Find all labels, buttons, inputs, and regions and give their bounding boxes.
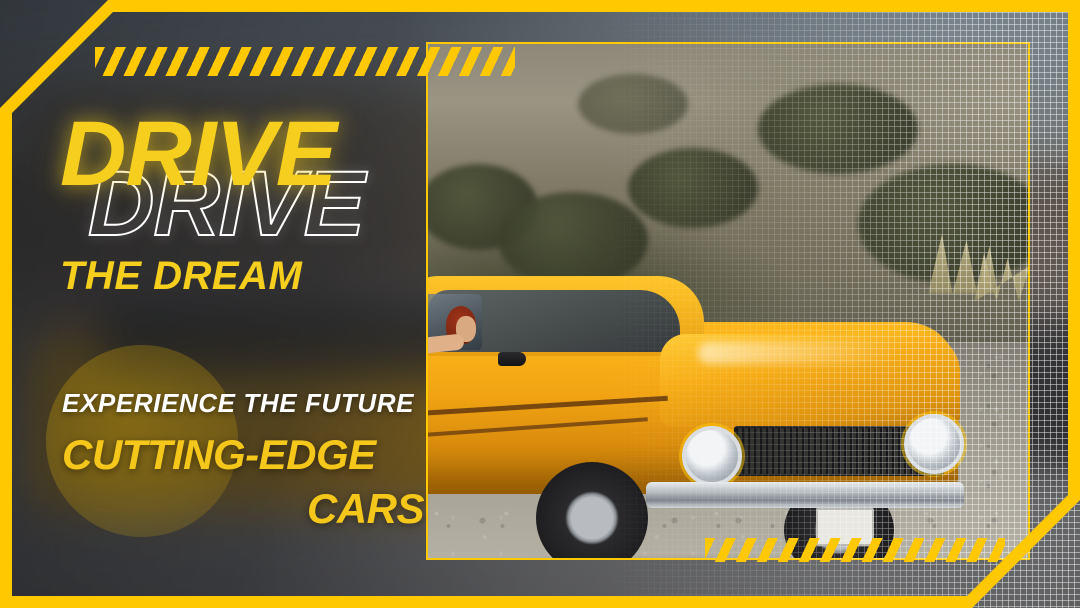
banner-canvas: DRIVE DRIVE THE DREAM EXPERIENCE THE FUT… bbox=[0, 0, 1080, 608]
car-side-mirror bbox=[498, 352, 526, 366]
photo-shrub bbox=[498, 192, 648, 288]
headline-word-stack: DRIVE DRIVE bbox=[60, 108, 420, 240]
lower-text-block: EXPERIENCE THE FUTURE CUTTING-EDGE CARS bbox=[62, 388, 424, 533]
tagline-line-2: CARS bbox=[62, 485, 424, 533]
car-ground-shadow bbox=[426, 558, 948, 560]
car-front-bumper bbox=[646, 482, 964, 508]
tagline-line-1: CUTTING-EDGE bbox=[62, 431, 424, 479]
car-license-plate bbox=[816, 508, 874, 546]
car-headlight-left bbox=[682, 426, 742, 486]
car-hood-highlight bbox=[698, 342, 898, 364]
headline-block: DRIVE DRIVE THE DREAM bbox=[60, 108, 420, 299]
headline-subtitle: THE DREAM bbox=[60, 254, 420, 299]
headline-word-fill: DRIVE bbox=[60, 108, 336, 200]
photo-car bbox=[426, 276, 1030, 560]
photo-shrub bbox=[758, 84, 918, 174]
car-photo-image bbox=[428, 44, 1028, 558]
photo-shrub bbox=[578, 74, 688, 134]
car-photo-panel bbox=[426, 42, 1030, 560]
eyebrow-text: EXPERIENCE THE FUTURE bbox=[62, 388, 424, 419]
car-headlight-right bbox=[904, 414, 964, 474]
photo-shrub bbox=[628, 148, 758, 228]
